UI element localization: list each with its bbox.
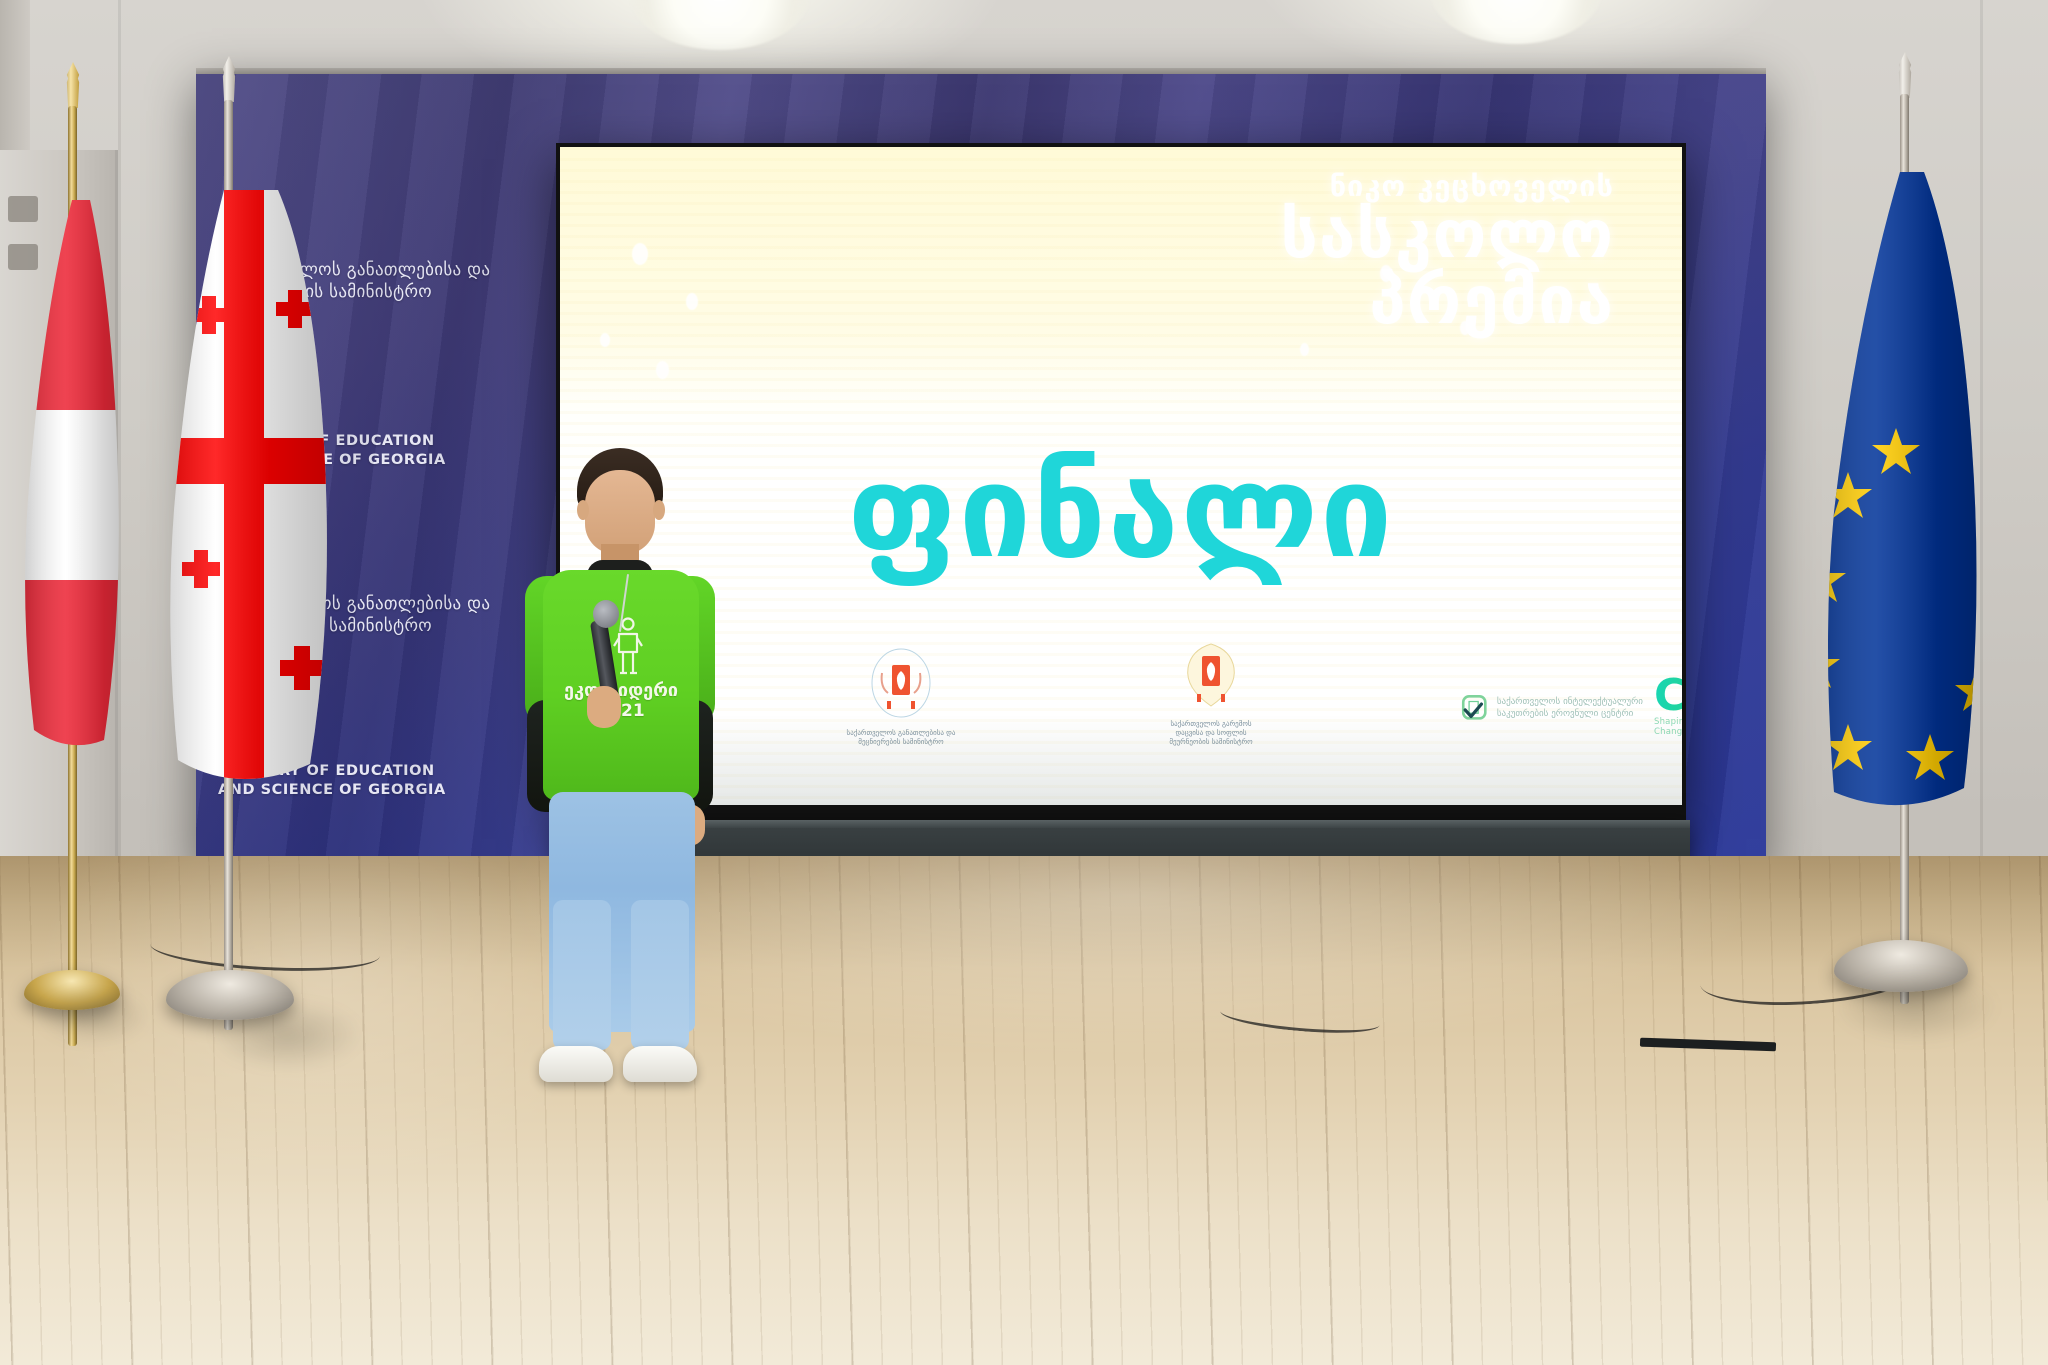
leg-left (553, 900, 611, 1050)
slide-heading-line2: სასკოლო (1280, 204, 1614, 266)
cenn-wordmark: CENN (1654, 670, 1682, 721)
book-check-icon (1460, 685, 1490, 731)
shoe-left (539, 1046, 613, 1082)
sparkle-dot (600, 333, 610, 347)
stage-photo-scene: საქართველოს განათლებისა და მეცნიერების ს… (0, 0, 2048, 1365)
floor-reflection (1836, 972, 1996, 1042)
slide-main-title: ფინალი (560, 449, 1682, 577)
leg-right (631, 900, 689, 1050)
ministry-crest-logo-2: საქართველოს გარემოს დაცვისა და სოფლის მე… (1180, 638, 1266, 747)
cenn-tagline: Shaping the Future by Changing Today (1654, 717, 1682, 737)
face (585, 470, 655, 554)
georgia-coat-of-arms-icon (870, 647, 932, 723)
tshirt-text: ეკოლიდერი 2021 (543, 680, 699, 721)
parquet-floor (0, 856, 2048, 1365)
floor-reflection-sheen (0, 856, 2048, 1365)
slide-heading-line3: პრემია (1280, 270, 1614, 332)
floor-reflection (212, 1000, 362, 1070)
ear (577, 500, 589, 520)
logo-caption-2: საქართველოს გარემოს დაცვისა და სოფლის მე… (1156, 720, 1266, 747)
georgia-coat-of-arms-icon (1180, 638, 1242, 714)
eco-leader-figure-icon (611, 616, 645, 676)
cenn-logo: CENN Shaping the Future by Changing Toda… (1654, 670, 1682, 737)
logo-caption-1: საქართველოს განათლებისა და მეცნიერების ს… (846, 729, 956, 747)
tshirt-text-line2: 2021 (543, 701, 699, 721)
slide-heading: ნიკო კეცხოველის სასკოლო პრემია (1280, 173, 1614, 332)
slide-logo-strip: With funding from Austrian Development C… (560, 655, 1682, 765)
hand-holding-mic (587, 686, 621, 728)
partner-logo: საქართველოს ინტელექტუალური საკუთრების ერ… (1460, 685, 1682, 731)
georgia-flag-cloth (158, 190, 338, 810)
sparkle-dot (686, 293, 698, 310)
ear (653, 500, 665, 520)
tshirt-text-line1: ეკოლიდერი (543, 680, 699, 701)
sparkle-dot (1300, 343, 1309, 356)
ministry-crest-logo-1: საქართველოს განათლებისა და მეცნიერების ს… (870, 647, 956, 747)
stage-edge (556, 820, 1690, 828)
microphone-head-icon (593, 600, 619, 628)
austria-flag-cloth (20, 200, 140, 780)
projection-screen: ნიკო კეცხოველის სასკოლო პრემია ფინალი Wi… (560, 147, 1682, 805)
presenter-student: ეკოლიდერი 2021 (515, 448, 725, 1148)
shoe-right (623, 1046, 697, 1082)
floor-reflection (38, 988, 148, 1044)
sparkle-dot (656, 361, 669, 379)
sparkle-dot (632, 243, 648, 265)
eu-flag-cloth (1800, 172, 1990, 812)
deer-silhouette-icon (680, 165, 970, 465)
